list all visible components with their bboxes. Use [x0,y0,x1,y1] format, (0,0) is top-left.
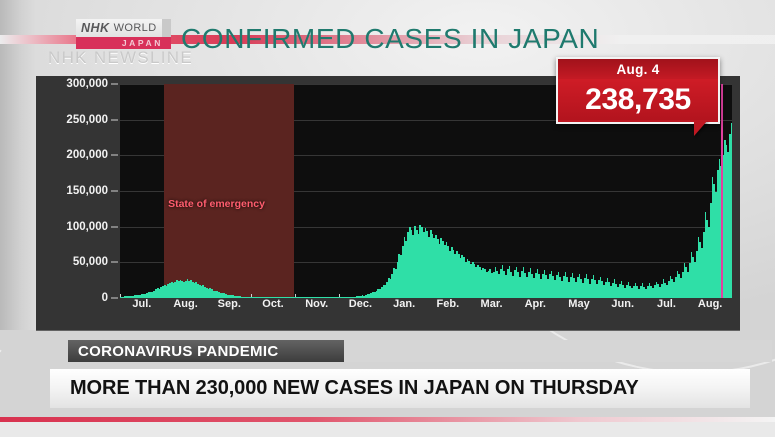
logo-nhk-text: NHK [81,21,110,35]
x-axis-tick-label: Aug. [173,298,197,310]
ticker-headline: MORE THAN 230,000 NEW CASES IN JAPAN ON … [70,377,639,400]
x-axis-tick-label: Feb. [437,298,460,310]
y-axis-tick-label: 0 [102,292,108,304]
y-axis-tick [111,191,118,192]
y-axis-tick [111,262,118,263]
y-axis-tick-label: 50,000 [73,256,108,268]
x-axis-tick-label: May [568,298,589,310]
callout-value-label: 238,735 [585,85,691,115]
y-axis-tick [111,226,118,227]
x-axis-tick-label: Aug. [698,298,722,310]
news-ticker: MORE THAN 230,000 NEW CASES IN JAPAN ON … [50,369,750,408]
logo-row-primary: NHK WORLD [76,19,171,37]
latest-date-marker [721,84,723,298]
y-axis-tick [111,84,118,85]
topic-banner: CORONAVIRUS PANDEMIC [68,340,344,362]
logo-tab-block [162,19,171,37]
y-axis-tick-label: 300,000 [66,78,108,90]
callout-date-label: Aug. 4 [616,62,659,77]
callout-value-bar: 238,735 [558,79,718,120]
bottom-fill [0,422,775,437]
callout-date-bar: Aug. 4 [558,59,718,79]
x-axis: Jul.Aug.Sep.Oct.Nov.Dec.Jan.Feb.Mar.Apr.… [120,298,732,314]
y-axis-tick [111,119,118,120]
y-axis: 050,000100,000150,000200,000250,000300,0… [36,76,120,306]
background-left-shade [0,0,36,330]
topic-label: CORONAVIRUS PANDEMIC [78,343,278,360]
state-of-emergency-label: State of emergency [168,198,265,210]
x-axis-tick-label: Dec. [349,298,372,310]
callout-pointer [694,120,708,136]
y-axis-tick [111,298,118,299]
x-axis-tick-label: Mar. [481,298,503,310]
y-axis-tick-label: 100,000 [66,221,108,233]
x-axis-tick-label: Jun. [611,298,634,310]
logo-japan-text: JAPAN [122,38,163,48]
x-axis-tick-label: Oct. [262,298,283,310]
logo-world-text: WORLD [114,22,157,34]
x-axis-tick-label: Jan. [393,298,415,310]
x-axis-tick-label: Jul. [657,298,676,310]
x-axis-tick-label: Jul. [132,298,151,310]
x-axis-tick-label: Nov. [305,298,328,310]
page-title: CONFIRMED CASES IN JAPAN [181,23,599,55]
x-axis-tick-label: Apr. [525,298,546,310]
newsline-watermark: NHK NEWSLINE [48,48,193,68]
y-axis-tick-label: 250,000 [66,114,108,126]
y-axis-tick-label: 150,000 [66,185,108,197]
y-axis-tick [111,155,118,156]
latest-figure-callout: Aug. 4 238,735 [556,57,720,124]
y-axis-tick-label: 200,000 [66,149,108,161]
x-axis-tick-label: Sep. [218,298,241,310]
